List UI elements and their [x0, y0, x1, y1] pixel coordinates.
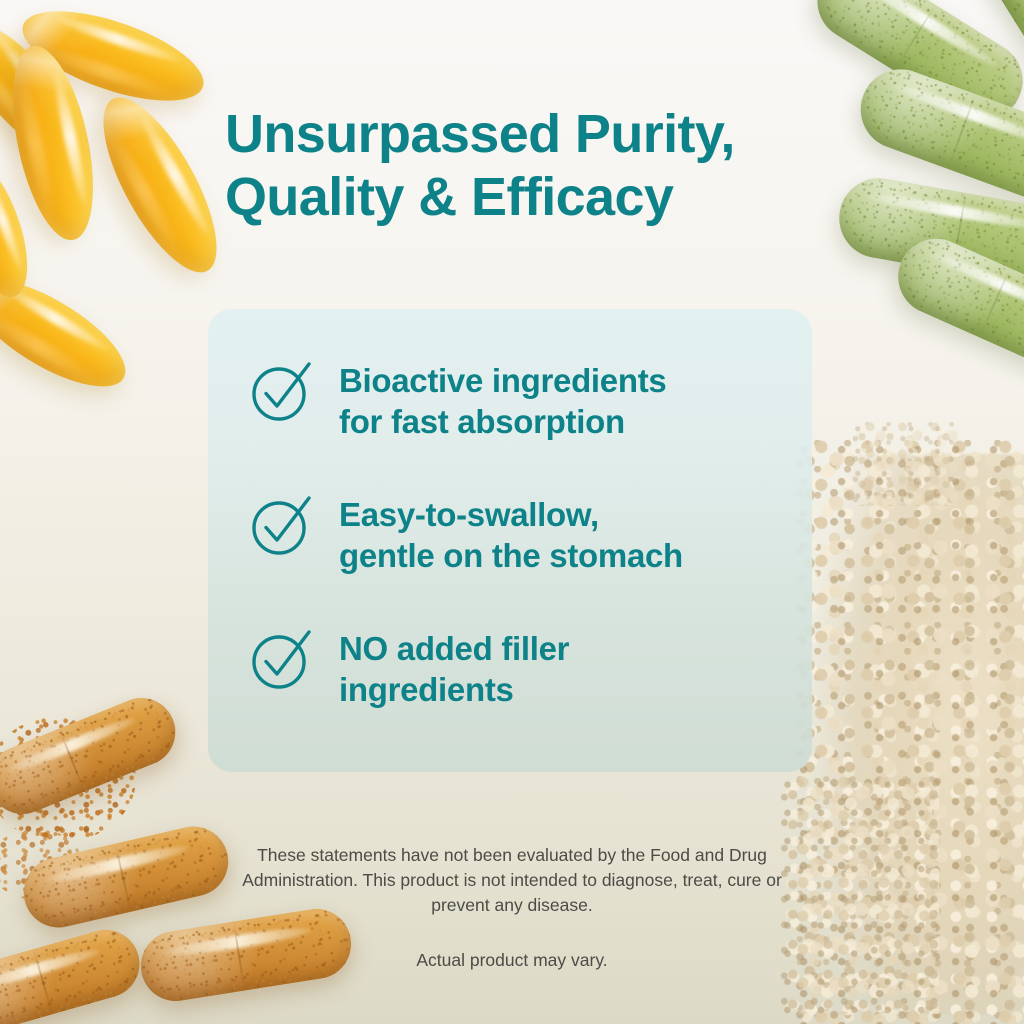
page-title: Unsurpassed Purity, Quality & Efficacy [225, 103, 845, 228]
turmeric-capsule [17, 820, 235, 935]
headline-line-2: Quality & Efficacy [225, 166, 845, 229]
green-capsule [833, 172, 1024, 292]
circle-check-icon [249, 493, 315, 559]
disclaimer: These statements have not been evaluated… [212, 843, 812, 972]
softgel-capsule [82, 82, 238, 287]
spilled-turmeric-powder [0, 716, 136, 842]
green-capsule [886, 227, 1024, 386]
feature-item: Bioactive ingredients for fast absorptio… [249, 357, 784, 443]
circle-check-icon [249, 627, 315, 693]
turmeric-capsule [0, 922, 147, 1024]
product-feature-graphic: Unsurpassed Purity, Quality & Efficacy B… [0, 0, 1024, 1024]
feature-text: Easy-to-swallow, gentle on the stomach [339, 491, 683, 577]
softgel-capsule [12, 0, 214, 119]
feature-line-2: ingredients [339, 670, 569, 711]
headline-line-1: Unsurpassed Purity, [225, 103, 845, 166]
feature-line-1: Easy-to-swallow, [339, 495, 683, 536]
feature-item: NO added filler ingredients [249, 625, 784, 711]
feature-line-2: for fast absorption [339, 402, 666, 443]
green-capsule [965, 0, 1024, 100]
feature-list: Bioactive ingredients for fast absorptio… [249, 357, 784, 710]
spilled-turmeric-powder [0, 828, 82, 900]
softgel-capsule [0, 145, 43, 306]
feature-line-1: NO added filler [339, 629, 569, 670]
feature-line-2: gentle on the stomach [339, 536, 683, 577]
protein-powder-pile [796, 430, 1024, 1024]
circle-check-icon [249, 359, 315, 425]
feature-card: Bioactive ingredients for fast absorptio… [208, 309, 812, 772]
green-capsule [849, 58, 1024, 214]
feature-item: Easy-to-swallow, gentle on the stomach [249, 491, 784, 577]
feature-line-1: Bioactive ingredients [339, 361, 666, 402]
softgel-capsule [0, 9, 88, 165]
feature-text: Bioactive ingredients for fast absorptio… [339, 357, 666, 443]
fda-disclaimer-text: These statements have not been evaluated… [242, 845, 782, 915]
product-variation-note: Actual product may vary. [212, 948, 812, 973]
softgel-capsule [0, 259, 140, 406]
turmeric-capsule [0, 688, 186, 824]
feature-text: NO added filler ingredients [339, 625, 569, 711]
softgel-capsule [0, 39, 108, 247]
